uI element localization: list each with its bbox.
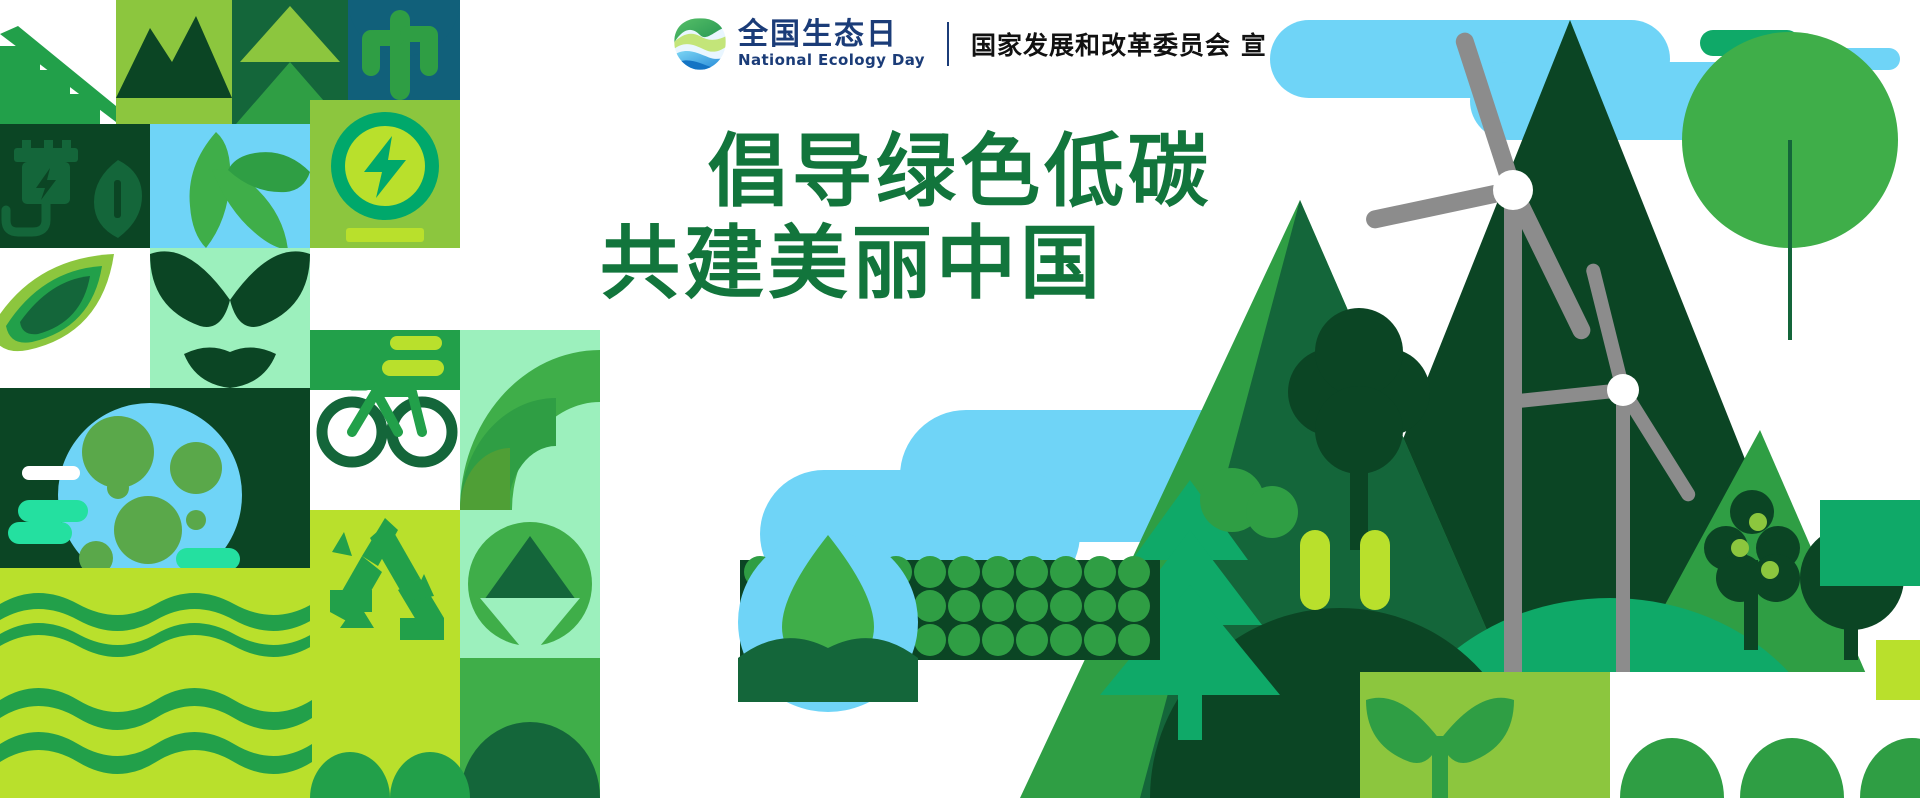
slogan-line-1: 倡导绿色低碳 <box>708 130 1212 214</box>
eco-banner: 全国生态日 National Ecology Day 国家发展和改革委员会 宣 … <box>0 0 1920 798</box>
bicycle-tile <box>310 330 460 480</box>
heart-tile <box>460 510 600 658</box>
national-ecology-day-logo-icon <box>672 16 728 72</box>
rainbow-arch-tile <box>460 330 600 510</box>
two-leaves-tile <box>150 124 310 250</box>
battery-bolt-tile <box>310 100 460 248</box>
ev-charger-tile <box>0 124 150 248</box>
landscape-scene <box>600 0 1920 798</box>
banner-artwork <box>0 0 1920 798</box>
left-bottom-fillers <box>0 658 600 798</box>
sprout-tile <box>150 248 310 388</box>
arch-row-right <box>1610 672 1920 798</box>
logo-title-en: National Ecology Day <box>738 53 925 68</box>
stairs-tile <box>0 0 116 124</box>
globe-tile <box>0 388 310 587</box>
agency-name: 国家发展和改革委员会 宣 <box>971 26 1267 62</box>
waves-tile <box>0 568 312 658</box>
logo-text-group: 全国生态日 National Ecology Day <box>738 20 925 68</box>
sprout-field <box>1360 672 1610 798</box>
leaf-outline-tile <box>0 248 150 388</box>
logo-title-cn: 全国生态日 <box>738 20 925 50</box>
water-drop-tile <box>738 532 918 712</box>
slogan-group: 倡导绿色低碳 共建美丽中国 <box>600 130 1212 306</box>
header-divider <box>947 22 949 66</box>
mountain-peaks-tile <box>116 0 232 124</box>
slogan-line-2: 共建美丽中国 <box>600 222 1212 306</box>
header-logo-group: 全国生态日 National Ecology Day 国家发展和改革委员会 宣 <box>672 16 1267 72</box>
